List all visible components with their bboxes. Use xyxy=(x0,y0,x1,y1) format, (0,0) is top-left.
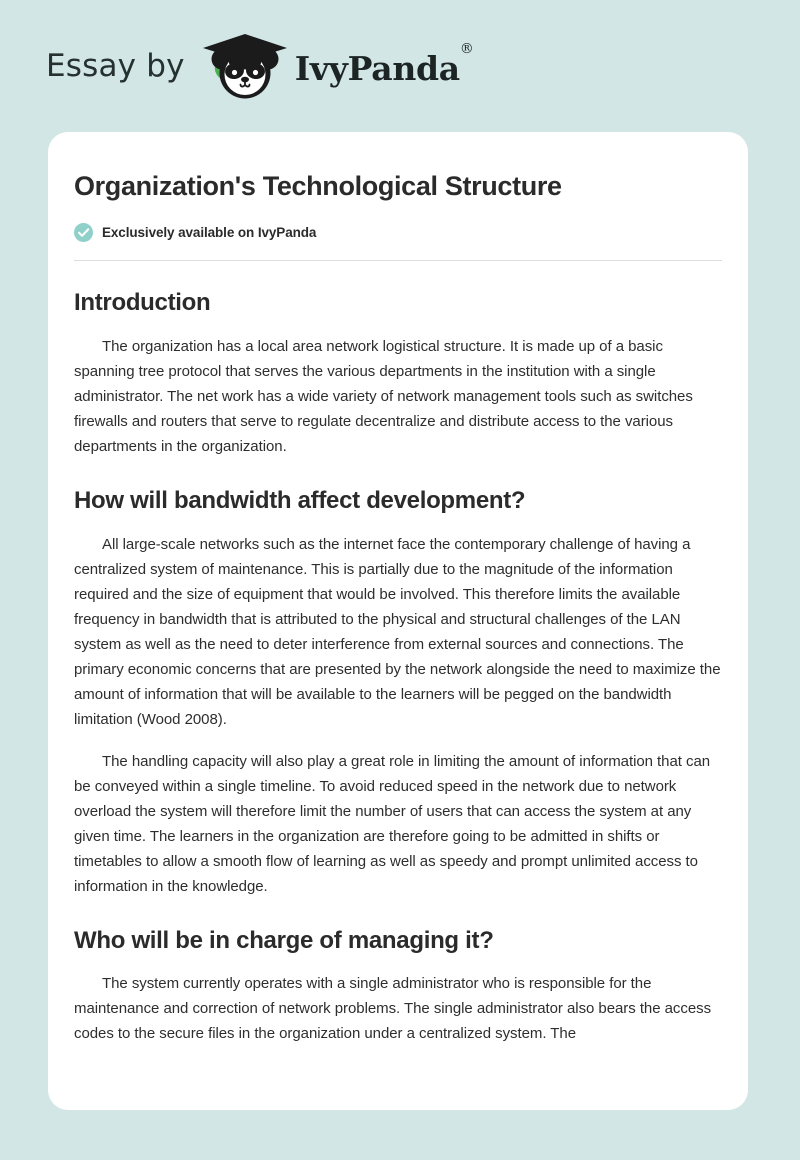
wordmark-text: IvyPanda xyxy=(295,49,460,88)
exclusive-label: Exclusively available on IvyPanda xyxy=(102,225,316,240)
document-card: Organization's Technological Structure E… xyxy=(48,132,748,1110)
section-heading-management: Who will be in charge of managing it? xyxy=(74,899,722,956)
paragraph: All large-scale networks such as the int… xyxy=(74,516,722,732)
ivypanda-wordmark: IvyPanda® xyxy=(295,52,474,85)
check-circle-icon xyxy=(74,223,93,242)
paragraph: The system currently operates with a sin… xyxy=(74,955,722,1046)
registered-mark-icon: ® xyxy=(460,41,474,57)
panda-graduate-icon xyxy=(199,30,291,102)
section-heading-introduction: Introduction xyxy=(74,261,722,318)
essay-by-label: Essay by xyxy=(46,51,185,82)
paragraph: The handling capacity will also play a g… xyxy=(74,732,722,899)
brand-header: Essay by IvyPa xyxy=(0,0,800,132)
page-title: Organization's Technological Structure xyxy=(74,132,722,203)
exclusive-availability-notice: Exclusively available on IvyPanda xyxy=(74,223,722,242)
paragraph: The organization has a local area networ… xyxy=(74,318,722,459)
section-heading-bandwidth: How will bandwidth affect development? xyxy=(74,459,722,516)
